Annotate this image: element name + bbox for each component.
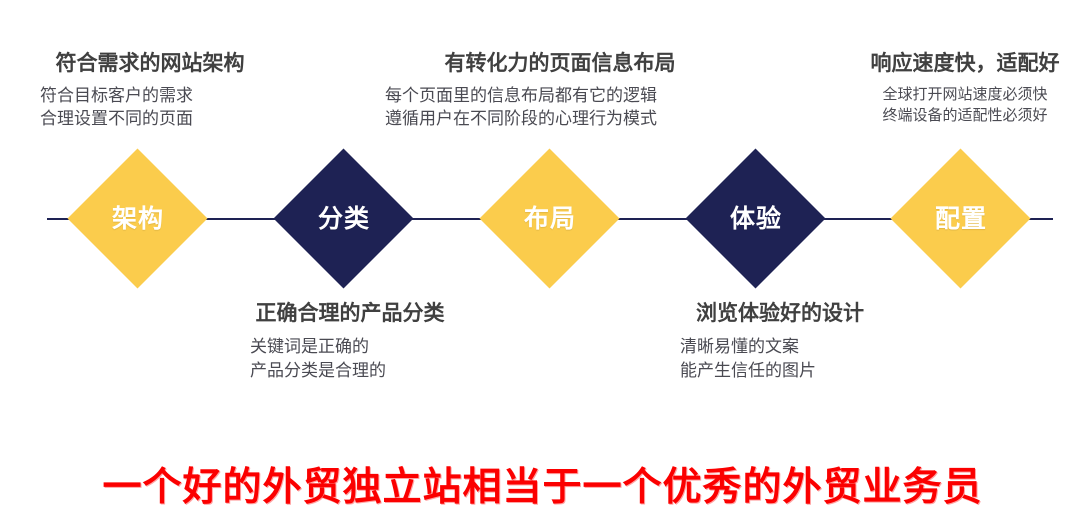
block-title-architecture: 符合需求的网站架构 [0,50,300,77]
diamond-label-configuration: 配置 [891,203,1031,235]
block-title-experience: 浏览体验好的设计 [635,300,925,327]
diamond-label-architecture: 架构 [68,203,208,235]
text-block-experience: 浏览体验好的设计 清晰易懂的文案 能产生信任的图片 [635,300,925,383]
diamond-label-layout: 布局 [480,203,620,235]
block-desc-experience: 清晰易懂的文案 能产生信任的图片 [635,335,925,383]
block-desc-category: 关键词是正确的 产品分类是合理的 [195,335,505,383]
footer-headline: 一个好的外贸独立站相当于一个优秀的外贸业务员 [0,463,1085,513]
block-desc-layout: 每个页面里的信息布局都有它的逻辑 遵循用户在不同阶段的心理行为模式 [375,84,745,130]
block-desc-architecture: 符合目标客户的需求 合理设置不同的页面 [0,84,300,130]
block-title-layout: 有转化力的页面信息布局 [375,50,745,77]
diamond-label-category: 分类 [274,203,414,235]
block-title-category: 正确合理的产品分类 [195,300,505,327]
text-block-architecture: 符合需求的网站架构 符合目标客户的需求 合理设置不同的页面 [0,50,300,130]
text-block-layout: 有转化力的页面信息布局 每个页面里的信息布局都有它的逻辑 遵循用户在不同阶段的心… [375,50,745,130]
text-block-configuration: 响应速度快，适配好 全球打开网站速度必须快 终端设备的适配性必须好 [845,50,1085,126]
infographic-canvas: 符合需求的网站架构 符合目标客户的需求 合理设置不同的页面 有转化力的页面信息布… [0,0,1085,524]
text-block-category: 正确合理的产品分类 关键词是正确的 产品分类是合理的 [195,300,505,383]
diamond-label-experience: 体验 [686,203,826,235]
block-title-configuration: 响应速度快，适配好 [845,50,1085,77]
block-desc-configuration: 全球打开网站速度必须快 终端设备的适配性必须好 [845,84,1085,126]
